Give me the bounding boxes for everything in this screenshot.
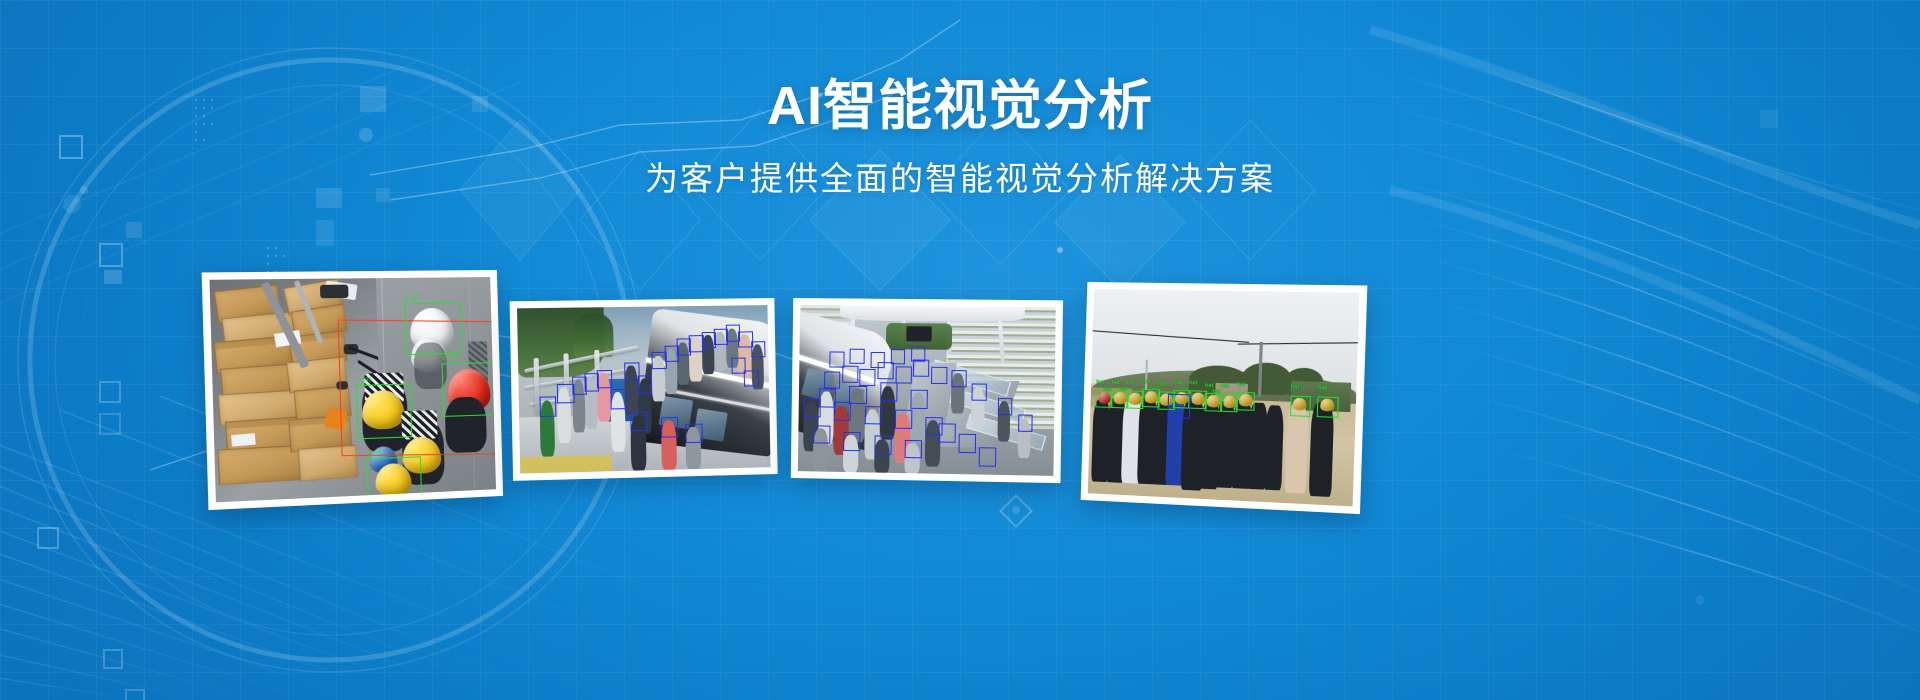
face-box xyxy=(637,375,652,394)
hat-box xyxy=(1317,396,1339,418)
detection-box xyxy=(441,362,496,417)
detection-box xyxy=(404,303,462,355)
hat-label: hat xyxy=(1150,387,1158,392)
scene-warehouse xyxy=(209,277,496,502)
hat-label: hat xyxy=(1181,388,1189,393)
hat-box xyxy=(1236,392,1255,411)
hat-box xyxy=(1290,395,1312,417)
hero-copy: AI智能视觉分析 为客户提供全面的智能视觉分析解决方案 xyxy=(0,78,1920,197)
hat-label: hat xyxy=(1290,385,1299,391)
face-box xyxy=(842,365,858,382)
detection-sample-gallery: hat hat hat hat hat hat hat hat xyxy=(0,262,1920,522)
hat-label: hat xyxy=(1158,382,1167,388)
face-box xyxy=(895,409,913,428)
face-box xyxy=(744,370,759,387)
face-box xyxy=(834,402,851,421)
face-box xyxy=(931,367,947,384)
face-box xyxy=(860,369,876,386)
face-box xyxy=(890,349,905,365)
face-box xyxy=(539,397,557,418)
face-box xyxy=(870,352,885,368)
face-box xyxy=(938,424,956,443)
face-box xyxy=(686,423,703,443)
face-box xyxy=(895,366,911,383)
face-box xyxy=(751,341,766,358)
hat-label: hat xyxy=(1104,388,1112,393)
face-box xyxy=(979,448,997,467)
face-box xyxy=(844,432,861,451)
face-box xyxy=(661,417,678,437)
person-box xyxy=(1167,394,1191,420)
hat-label: hat xyxy=(1142,379,1150,385)
gallery-card-warehouse[interactable] xyxy=(202,270,504,510)
detection-box xyxy=(367,456,423,502)
face-box xyxy=(610,389,628,409)
gallery-card-footbridge[interactable] xyxy=(510,298,778,481)
face-box xyxy=(997,398,1012,415)
hat-label: hat xyxy=(1213,390,1221,395)
sample-image-warehouse xyxy=(209,277,496,502)
page-subtitle: 为客户提供全面的智能视觉分析解决方案 xyxy=(0,161,1920,197)
hat-label: hat xyxy=(1221,384,1230,390)
face-box xyxy=(913,360,929,377)
sample-image-construction-site: hat hat hat hat hat hat hat hat xyxy=(1088,289,1360,506)
hat-label: hat xyxy=(1173,380,1182,386)
face-box xyxy=(597,369,612,388)
hat-label: hat xyxy=(1096,380,1104,386)
face-box xyxy=(830,352,845,367)
face-box xyxy=(951,370,966,387)
gallery-card-concourse[interactable] xyxy=(791,298,1063,483)
face-box xyxy=(880,383,898,402)
gallery-card-construction-site[interactable]: hat hat hat hat hat hat hat hat xyxy=(1081,282,1368,514)
scene-concourse xyxy=(798,305,1056,476)
scene-construction-site: hat hat hat hat hat hat hat hat xyxy=(1088,289,1360,506)
hat-label: hat xyxy=(1127,381,1135,387)
face-box xyxy=(813,425,830,444)
face-box xyxy=(874,436,892,455)
hero-banner: AI智能视觉分析 为客户提供全面的智能视觉分析解决方案 xyxy=(0,0,1920,700)
sample-image-footbridge xyxy=(517,305,771,473)
hat-label: hat xyxy=(1237,382,1246,388)
face-box xyxy=(864,406,882,425)
face-box xyxy=(1018,415,1033,432)
hat-label: hat xyxy=(1119,387,1127,392)
face-box xyxy=(850,349,865,365)
face-box xyxy=(972,384,987,401)
face-box xyxy=(630,411,647,431)
face-box xyxy=(911,346,926,362)
face-box xyxy=(958,434,976,453)
face-box xyxy=(910,390,928,409)
detection-box xyxy=(356,383,412,439)
hat-label: hat xyxy=(1189,381,1198,387)
face-box xyxy=(849,385,866,404)
page-title: AI智能视觉分析 xyxy=(0,78,1920,135)
hat-label: hat xyxy=(1318,386,1327,392)
face-box xyxy=(904,440,922,459)
scene-footbridge xyxy=(517,305,771,473)
face-box xyxy=(824,372,840,389)
sample-image-concourse xyxy=(798,305,1056,476)
